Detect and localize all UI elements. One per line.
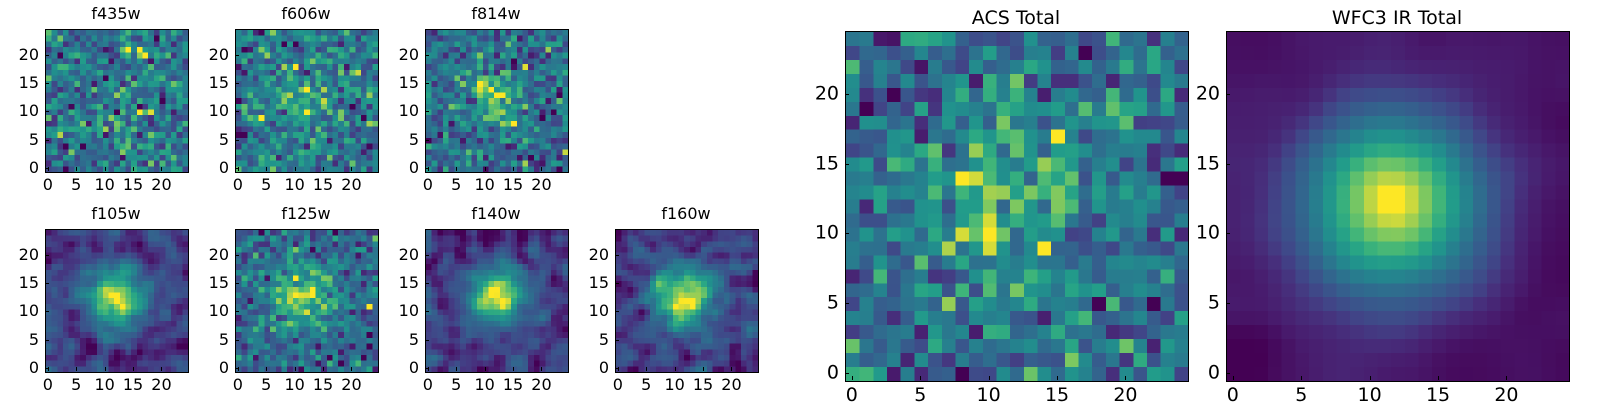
x-tick — [323, 167, 324, 171]
x-tick-label: 0 — [423, 377, 433, 393]
y-tick — [425, 140, 429, 141]
panel-f140w: f140w0510152005101520 — [381, 203, 567, 397]
y-tick-label: 5 — [571, 332, 609, 348]
x-tick-label: 10 — [284, 177, 304, 193]
y-tick — [615, 283, 619, 284]
y-tick-label: 5 — [1, 132, 39, 148]
x-tick-label: 0 — [233, 377, 243, 393]
heatmap-image — [45, 29, 189, 173]
x-tick-label: 10 — [474, 177, 494, 193]
x-tick — [266, 167, 267, 171]
y-tick-label: 5 — [191, 332, 229, 348]
panel-title: f606w — [235, 5, 377, 23]
y-tick-label: 20 — [191, 247, 229, 263]
heatmap-canvas — [616, 230, 758, 372]
y-tick — [425, 311, 429, 312]
y-tick-label: 0 — [571, 360, 609, 376]
y-tick-label: 10 — [1, 303, 39, 319]
y-tick-label: 15 — [381, 75, 419, 91]
x-tick — [1125, 376, 1126, 380]
x-tick — [295, 167, 296, 171]
y-tick — [845, 233, 849, 234]
y-tick-label: 0 — [191, 160, 229, 176]
y-tick-label: 10 — [381, 103, 419, 119]
y-tick-label: 15 — [381, 275, 419, 291]
x-tick — [161, 367, 162, 371]
x-tick-label: 5 — [641, 377, 651, 393]
y-tick — [845, 303, 849, 304]
y-tick — [235, 111, 239, 112]
heatmap-image — [1226, 31, 1570, 382]
x-tick-label: 20 — [531, 177, 551, 193]
y-tick-label: 10 — [1, 103, 39, 119]
x-tick-label: 5 — [451, 177, 461, 193]
y-tick-label: 0 — [801, 364, 839, 383]
y-tick — [425, 111, 429, 112]
heatmap-image — [235, 229, 379, 373]
y-tick-label: 20 — [1, 47, 39, 63]
x-tick-label: 15 — [693, 377, 713, 393]
heatmap-canvas — [1227, 32, 1569, 381]
y-tick-label: 5 — [1182, 294, 1220, 313]
x-tick — [1233, 376, 1234, 380]
x-tick-label: 15 — [313, 377, 333, 393]
heatmap-canvas — [46, 230, 188, 372]
y-tick-label: 15 — [571, 275, 609, 291]
x-tick — [513, 167, 514, 171]
y-tick-label: 15 — [1182, 154, 1220, 173]
heatmap-image — [615, 229, 759, 373]
x-tick-label: 15 — [313, 177, 333, 193]
y-tick-label: 15 — [191, 275, 229, 291]
y-tick — [235, 311, 239, 312]
heatmap-canvas — [236, 230, 378, 372]
y-tick-label: 5 — [801, 294, 839, 313]
x-tick-label: 5 — [261, 377, 271, 393]
panel-f435w: f435w0510152005101520 — [1, 3, 187, 197]
y-tick-label: 10 — [191, 103, 229, 119]
y-tick-label: 5 — [381, 132, 419, 148]
heatmap-image — [425, 229, 569, 373]
x-tick-label: 20 — [151, 377, 171, 393]
x-tick — [675, 367, 676, 371]
x-tick — [266, 367, 267, 371]
x-tick-label: 15 — [503, 177, 523, 193]
y-tick-label: 0 — [381, 160, 419, 176]
panel-title: WFC3 IR Total — [1226, 7, 1568, 29]
x-tick — [456, 167, 457, 171]
x-tick — [541, 167, 542, 171]
x-tick-label: 20 — [721, 377, 741, 393]
y-tick-label: 0 — [1, 160, 39, 176]
x-tick — [133, 167, 134, 171]
x-tick — [1438, 376, 1439, 380]
panel-f606w: f606w0510152005101520 — [191, 3, 377, 197]
x-tick-label: 5 — [71, 177, 81, 193]
x-tick — [105, 167, 106, 171]
x-tick-label: 20 — [341, 377, 361, 393]
y-tick-label: 0 — [191, 360, 229, 376]
y-tick — [425, 255, 429, 256]
x-tick-label: 5 — [914, 386, 926, 405]
panel-f105w: f105w0510152005101520 — [1, 203, 187, 397]
y-tick — [425, 55, 429, 56]
y-tick-label: 5 — [191, 132, 229, 148]
x-tick-label: 15 — [503, 377, 523, 393]
x-tick — [1301, 376, 1302, 380]
panel-title: f435w — [45, 5, 187, 23]
y-tick — [1226, 164, 1230, 165]
x-tick — [295, 367, 296, 371]
heatmap-image — [45, 229, 189, 373]
y-tick — [45, 368, 49, 369]
x-tick-label: 10 — [474, 377, 494, 393]
x-tick-label: 10 — [94, 177, 114, 193]
heatmap-image — [845, 31, 1189, 382]
x-tick — [485, 367, 486, 371]
y-tick — [1226, 303, 1230, 304]
x-tick-label: 10 — [284, 377, 304, 393]
panel-title: f105w — [45, 205, 187, 223]
y-tick — [235, 55, 239, 56]
x-tick-label: 20 — [531, 377, 551, 393]
x-tick-label: 0 — [43, 377, 53, 393]
panel-title: ACS Total — [845, 7, 1187, 29]
y-tick — [235, 255, 239, 256]
x-tick — [852, 376, 853, 380]
x-tick — [456, 367, 457, 371]
panel-f814w: f814w0510152005101520 — [381, 3, 567, 197]
y-tick-label: 0 — [381, 360, 419, 376]
x-tick-label: 5 — [71, 377, 81, 393]
x-tick-label: 20 — [151, 177, 171, 193]
x-tick-label: 15 — [1045, 386, 1069, 405]
y-tick — [45, 111, 49, 112]
y-tick — [45, 168, 49, 169]
y-tick-label: 10 — [571, 303, 609, 319]
panel-wfc3-ir-total: WFC3 IR Total0510152005101520 — [1182, 5, 1568, 406]
y-tick-label: 10 — [191, 303, 229, 319]
y-tick — [45, 283, 49, 284]
x-tick-label: 0 — [1227, 386, 1239, 405]
x-tick-label: 10 — [94, 377, 114, 393]
x-tick — [1057, 376, 1058, 380]
x-tick — [161, 167, 162, 171]
heatmap-image — [425, 29, 569, 173]
y-tick — [615, 311, 619, 312]
x-tick-label: 0 — [423, 177, 433, 193]
y-tick — [425, 168, 429, 169]
panel-title: f814w — [425, 5, 567, 23]
y-tick-label: 20 — [1, 247, 39, 263]
y-tick — [615, 255, 619, 256]
panel-title: f160w — [615, 205, 757, 223]
y-tick-label: 5 — [381, 332, 419, 348]
y-tick-label: 15 — [801, 154, 839, 173]
heatmap-canvas — [846, 32, 1188, 381]
x-tick-label: 10 — [1358, 386, 1382, 405]
y-tick — [845, 164, 849, 165]
x-tick-label: 0 — [43, 177, 53, 193]
y-tick — [615, 368, 619, 369]
x-tick — [541, 367, 542, 371]
y-tick — [425, 340, 429, 341]
y-tick — [235, 168, 239, 169]
x-tick — [920, 376, 921, 380]
y-tick — [235, 140, 239, 141]
panel-title: f140w — [425, 205, 567, 223]
x-tick — [133, 367, 134, 371]
x-tick-label: 5 — [261, 177, 271, 193]
x-tick — [731, 367, 732, 371]
x-tick — [76, 367, 77, 371]
y-tick — [1226, 233, 1230, 234]
y-tick-label: 5 — [1, 332, 39, 348]
y-tick — [425, 368, 429, 369]
y-tick — [1226, 94, 1230, 95]
panel-acs-total: ACS Total0510152005101520 — [801, 5, 1187, 406]
y-tick — [845, 373, 849, 374]
y-tick-label: 20 — [381, 247, 419, 263]
x-tick-label: 0 — [233, 177, 243, 193]
y-tick — [45, 340, 49, 341]
x-tick — [989, 376, 990, 380]
x-tick — [351, 367, 352, 371]
y-tick-label: 0 — [1, 360, 39, 376]
heatmap-canvas — [236, 30, 378, 172]
y-tick — [615, 340, 619, 341]
y-tick-label: 10 — [381, 303, 419, 319]
x-tick-label: 15 — [123, 177, 143, 193]
y-tick-label: 20 — [801, 84, 839, 103]
x-tick — [105, 367, 106, 371]
panel-f125w: f125w0510152005101520 — [191, 203, 377, 397]
heatmap-canvas — [426, 230, 568, 372]
panel-title: f125w — [235, 205, 377, 223]
x-tick-label: 5 — [451, 377, 461, 393]
panel-f160w: f160w0510152005101520 — [571, 203, 757, 397]
x-tick — [1506, 376, 1507, 380]
x-tick-label: 5 — [1295, 386, 1307, 405]
x-tick-label: 20 — [1113, 386, 1137, 405]
y-tick — [45, 83, 49, 84]
y-tick — [235, 368, 239, 369]
x-tick — [351, 167, 352, 171]
x-tick — [485, 167, 486, 171]
y-tick — [235, 283, 239, 284]
heatmap-canvas — [46, 30, 188, 172]
y-tick-label: 10 — [1182, 224, 1220, 243]
y-tick — [1226, 373, 1230, 374]
x-tick-label: 15 — [1426, 386, 1450, 405]
y-tick — [845, 94, 849, 95]
y-tick — [235, 340, 239, 341]
y-tick — [45, 311, 49, 312]
y-tick — [45, 255, 49, 256]
x-tick — [323, 367, 324, 371]
heatmap-image — [235, 29, 379, 173]
y-tick-label: 20 — [571, 247, 609, 263]
y-tick-label: 20 — [381, 47, 419, 63]
x-tick-label: 0 — [846, 386, 858, 405]
x-tick-label: 0 — [613, 377, 623, 393]
y-tick-label: 15 — [1, 75, 39, 91]
y-tick-label: 20 — [1182, 84, 1220, 103]
x-tick — [513, 367, 514, 371]
y-tick-label: 10 — [801, 224, 839, 243]
y-tick — [235, 83, 239, 84]
y-tick-label: 20 — [191, 47, 229, 63]
y-tick — [45, 55, 49, 56]
y-tick-label: 15 — [1, 275, 39, 291]
y-tick-label: 15 — [191, 75, 229, 91]
x-tick-label: 20 — [1494, 386, 1518, 405]
x-tick — [703, 367, 704, 371]
y-tick-label: 0 — [1182, 364, 1220, 383]
x-tick-label: 20 — [341, 177, 361, 193]
y-tick — [425, 83, 429, 84]
x-tick-label: 10 — [664, 377, 684, 393]
x-tick — [1370, 376, 1371, 380]
x-tick — [646, 367, 647, 371]
heatmap-canvas — [426, 30, 568, 172]
x-tick-label: 15 — [123, 377, 143, 393]
x-tick-label: 10 — [977, 386, 1001, 405]
y-tick — [425, 283, 429, 284]
x-tick — [76, 167, 77, 171]
y-tick — [45, 140, 49, 141]
